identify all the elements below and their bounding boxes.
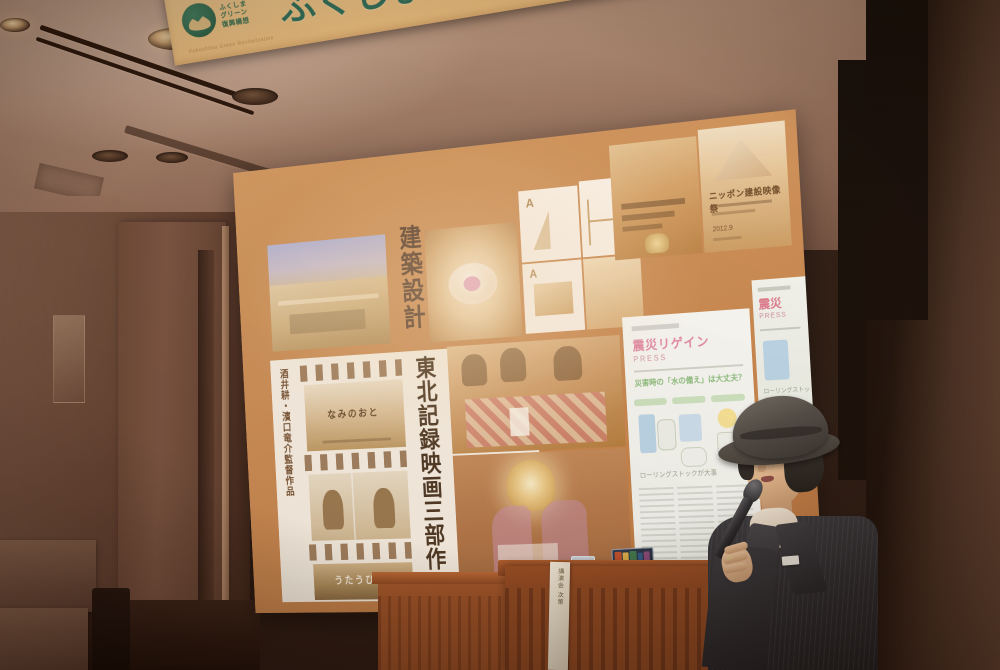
slide-poster-date: 2012.9 [713,225,733,234]
side-poster-title: 震災 [758,294,782,312]
lectern-side-top [372,572,516,584]
wall-mounted-panel [53,315,85,403]
speaker-cabinet [92,588,130,670]
slide-heading-tohoku-trilogy: 東北記録映画三部作 [413,355,446,571]
downlight [0,18,30,32]
lecture-hall-scene: 建築設計 A A A [0,0,1000,670]
slide-silhouette-row [300,359,403,382]
slide-photo-group [447,335,626,454]
slide-heading-architecture: 建築設計 [396,224,425,332]
logo-mark-icon [179,1,218,40]
slide-poster-figures [308,471,410,541]
slide-photo-building [269,276,390,352]
slide-poster-event-photo [609,136,703,260]
slide-poster-a2: A [522,259,585,333]
downlight [156,152,188,163]
infographic-title: 震災リゲイン [632,331,710,354]
slide-poster-title: なみのおと [327,404,379,421]
side-poster-subtitle: PRESS [759,312,787,321]
slide-silhouette-row [304,450,407,471]
infographic-lead: 災害時の「水の備え」は大丈夫？ [634,372,746,389]
lectern-sign-text: 講演会 次第 [554,568,563,606]
slide-poster-a1: A [518,185,581,262]
lectern-slats [378,596,510,670]
slide-silhouette-row [309,542,412,561]
fukushima-green-logo: ふくしま グリーン 復興構想 Fukushima Green Revitaliz… [177,0,279,56]
equipment-case [0,608,88,670]
lectern-side-panel [378,578,510,670]
logo-roman-text: Fukushima Green Revitalization [189,35,275,55]
speaker-presenter [688,396,878,670]
name-badge [782,555,800,565]
downlight [92,150,128,162]
slide-photo-glass-object [424,222,522,343]
slide-poster-nippon-kensetsu: ニッポン建設映像祭 2012.9 [698,120,792,252]
banner-title: ふくしまグリーン復興推進講演会 [275,0,837,33]
infographic-subtitle: PRESS [633,353,667,364]
equipment-case [0,540,96,612]
logo-text-lines: ふくしま グリーン 復興構想 [219,0,250,29]
slide-film-credits: 酒井耕・濱口竜介監督作品 [278,368,293,497]
slide-poster-naminooto: なみのおと [304,379,406,451]
banner-body: ふくしま グリーン 復興構想 Fukushima Green Revitaliz… [162,0,860,66]
lectern-vertical-sign: 講演会 次第 [548,562,570,670]
